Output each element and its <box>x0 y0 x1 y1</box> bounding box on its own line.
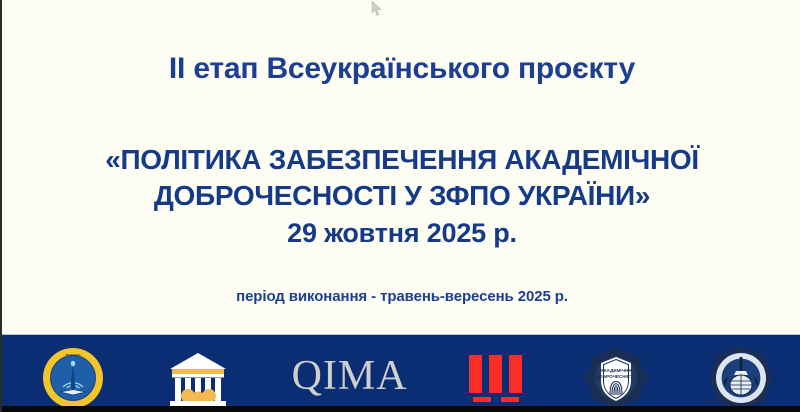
page-title: II етап Всеукраїнського проєкту <box>2 52 800 85</box>
slide-text-content: II етап Всеукраїнського проєкту «ПОЛІТИК… <box>2 0 800 334</box>
classical-building-logo-icon <box>166 349 230 407</box>
red-bar-foot <box>473 397 491 402</box>
partner-logo-banner: ТЕХНІЧНА <box>2 334 800 412</box>
svg-text:ТЕХНІЧНА: ТЕХНІЧНА <box>65 353 81 357</box>
logo-item: АКАДЕМІЧНА ДОБРОЧЕСНІСТЬ <box>584 348 648 408</box>
logo-item <box>469 355 522 402</box>
logo-item: QIMA <box>292 355 408 401</box>
execution-period: період виконання - травень-вересень 2025… <box>2 288 800 305</box>
logo-item <box>710 347 772 409</box>
banner-bottom-strip <box>2 406 800 412</box>
three-red-bars-logo-icon <box>469 355 522 402</box>
policy-title-line-2: ДОБРОЧЕСНОСТІ У ЗФПО УКРАЇНИ» <box>2 178 800 214</box>
logo-item: ТЕХНІЧНА <box>42 347 104 409</box>
red-bar <box>469 355 482 393</box>
red-bar-foot <box>501 397 519 402</box>
policy-title-line-1: «ПОЛІТИКА ЗАБЕЗПЕЧЕННЯ АКАДЕМІЧНОЇ <box>2 142 800 178</box>
academic-integrity-shield-icon: АКАДЕМІЧНА ДОБРОЧЕСНІСТЬ <box>584 348 648 408</box>
event-date: 29 жовтня 2025 р. <box>2 218 800 249</box>
vinnytsia-technical-academy-seal-icon: ТЕХНІЧНА <box>42 347 104 409</box>
logo-row: ТЕХНІЧНА <box>42 347 772 409</box>
presentation-slide: II етап Всеукраїнського проєкту «ПОЛІТИК… <box>0 0 800 412</box>
qima-wordmark: QIMA <box>292 355 408 401</box>
technical-institute-gear-seal-icon <box>710 347 772 409</box>
policy-title: «ПОЛІТИКА ЗАБЕЗПЕЧЕННЯ АКАДЕМІЧНОЇ ДОБРО… <box>2 142 800 213</box>
svg-text:АКАДЕМІЧНА: АКАДЕМІЧНА <box>601 368 633 373</box>
red-bar <box>489 355 502 393</box>
logo-item <box>166 349 230 407</box>
svg-text:ДОБРОЧЕСНІСТЬ: ДОБРОЧЕСНІСТЬ <box>596 374 637 379</box>
red-bar <box>509 355 522 393</box>
